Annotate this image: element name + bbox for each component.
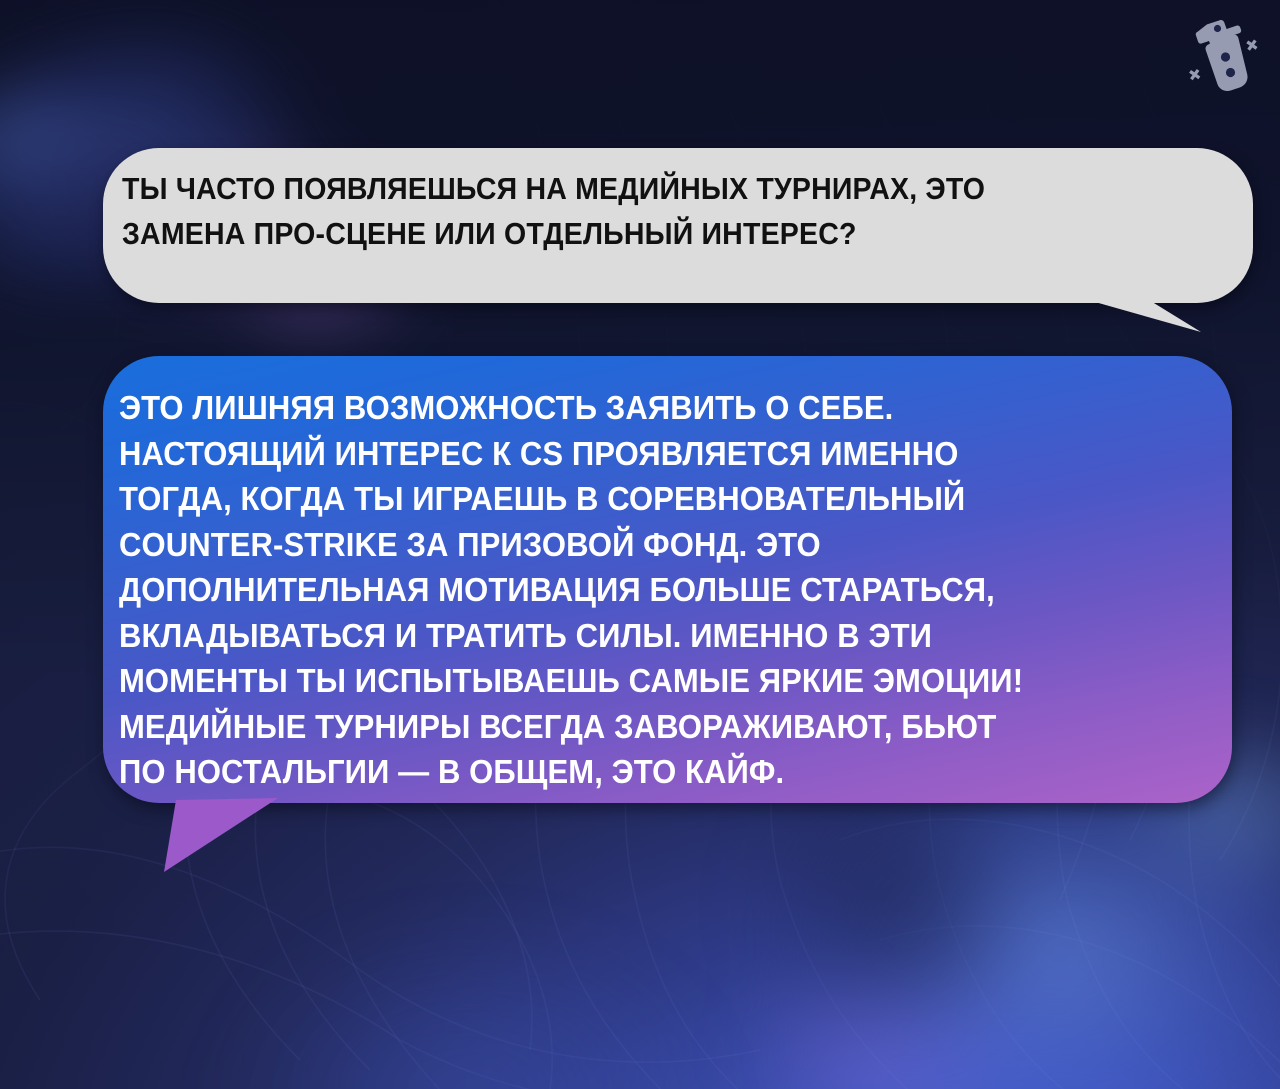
interview-card: ТЫ ЧАСТО ПОЯВЛЯЕШЬСЯ НА МЕДИЙНЫХ ТУРНИРА… bbox=[0, 0, 1280, 1089]
question-bubble-tail bbox=[1081, 298, 1201, 332]
answer-line: МЕДИЙНЫЕ ТУРНИРЫ ВСЕГДА ЗАВОРАЖИВАЮТ, БЬ… bbox=[119, 704, 1162, 750]
answer-line: COUNTER-STRIKE ЗА ПРИЗОВОЙ ФОНД. ЭТО bbox=[119, 522, 1162, 568]
answer-line: ПО НОСТАЛЬГИИ — В ОБЩЕМ, ЭТО КАЙФ. bbox=[119, 749, 1162, 795]
answer-line: ВКЛАДЫВАТЬСЯ И ТРАТИТЬ СИЛЫ. ИМЕННО В ЭТ… bbox=[119, 613, 1162, 659]
answer-line: НАСТОЯЩИЙ ИНТЕРЕС К CS ПРОЯВЛЯЕТСЯ ИМЕНН… bbox=[119, 431, 1162, 477]
question-text: ТЫ ЧАСТО ПОЯВЛЯЕШЬСЯ НА МЕДИЙНЫХ ТУРНИРА… bbox=[122, 167, 1079, 256]
answer-line: ДОПОЛНИТЕЛЬНАЯ МОТИВАЦИЯ БОЛЬШЕ СТАРАТЬС… bbox=[119, 567, 1162, 613]
answer-line: ЭТО ЛИШНЯЯ ВОЗМОЖНОСТЬ ЗАЯВИТЬ О СЕБЕ. bbox=[119, 385, 1162, 431]
answer-text: ЭТО ЛИШНЯЯ ВОЗМОЖНОСТЬ ЗАЯВИТЬ О СЕБЕ. Н… bbox=[119, 385, 1162, 795]
question-line: ЗАМЕНА ПРО-СЦЕНЕ ИЛИ ОТДЕЛЬНЫЙ ИНТЕРЕС? bbox=[122, 212, 1079, 257]
answer-line: МОМЕНТЫ ТЫ ИСПЫТЫВАЕШЬ САМЫЕ ЯРКИЕ ЭМОЦИ… bbox=[119, 658, 1162, 704]
answer-line: ТОГДА, КОГДА ТЫ ИГРАЕШЬ В СОРЕВНОВАТЕЛЬН… bbox=[119, 476, 1162, 522]
answer-bubble-tail bbox=[160, 798, 280, 874]
question-line: ТЫ ЧАСТО ПОЯВЛЯЕШЬСЯ НА МЕДИЙНЫХ ТУРНИРА… bbox=[122, 167, 1079, 212]
